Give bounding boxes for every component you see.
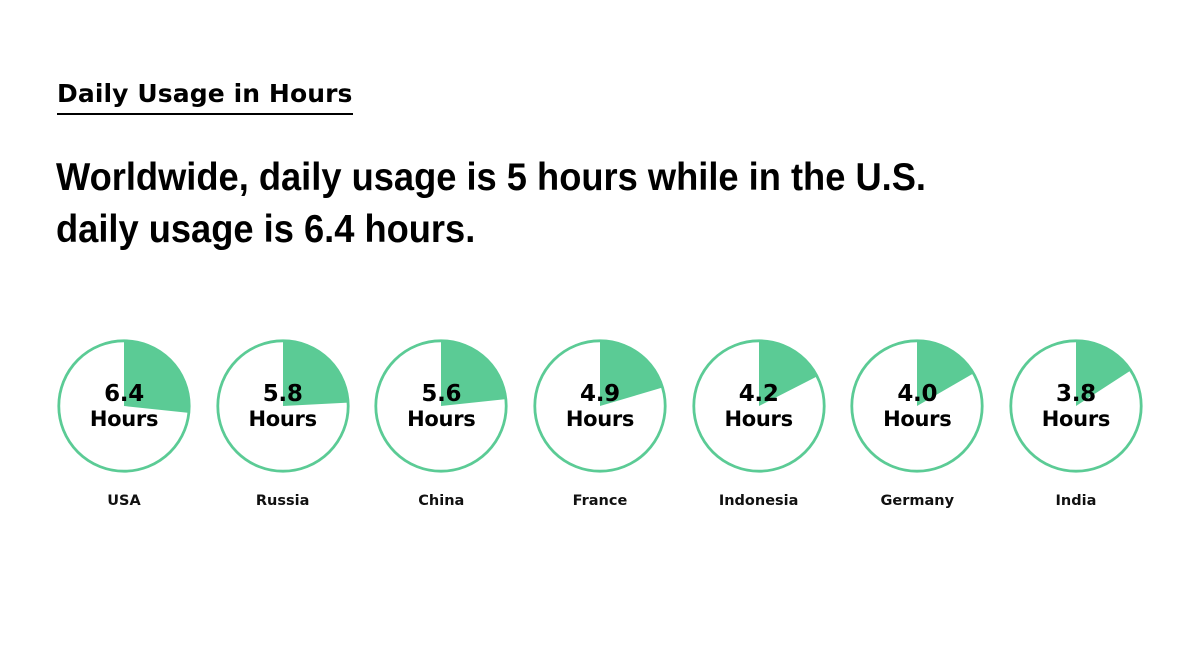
pie-cell-china: 5.6HoursChina — [373, 338, 509, 509]
pie-cell-germany: 4.0HoursGermany — [849, 338, 985, 509]
pie-country-label: China — [418, 493, 464, 509]
pie-chart-france: 4.9Hours — [532, 338, 668, 474]
pie-chart-usa: 6.4Hours — [56, 338, 192, 474]
pie-cell-france: 4.9HoursFrance — [532, 338, 668, 509]
pie-chart-indonesia: 4.2Hours — [691, 338, 827, 474]
pie-cell-russia: 5.8HoursRussia — [215, 338, 351, 509]
section-title: Daily Usage in Hours — [57, 80, 353, 115]
pie-country-label: Russia — [256, 493, 310, 509]
pie-slice-used — [441, 341, 506, 406]
pie-country-label: USA — [107, 493, 140, 509]
pie-country-label: Indonesia — [719, 493, 799, 509]
pie-cell-usa: 6.4HoursUSA — [56, 338, 192, 509]
pie-chart-russia: 5.8Hours — [215, 338, 351, 474]
pie-cell-indonesia: 4.2HoursIndonesia — [691, 338, 827, 509]
pie-cell-india: 3.8HoursIndia — [1008, 338, 1144, 509]
pie-chart-germany: 4.0Hours — [849, 338, 985, 474]
pie-country-label: India — [1056, 493, 1097, 509]
pie-chart-row: 6.4HoursUSA5.8HoursRussia5.6HoursChina4.… — [56, 338, 1144, 509]
pie-chart-india: 3.8Hours — [1008, 338, 1144, 474]
pie-slice-used — [283, 341, 348, 406]
section-title-text: Daily Usage in Hours — [57, 80, 353, 115]
pie-chart-china: 5.6Hours — [373, 338, 509, 474]
pie-slice-used — [124, 341, 189, 413]
pie-country-label: Germany — [881, 493, 955, 509]
pie-country-label: France — [573, 493, 628, 509]
headline: Worldwide, daily usage is 5 hours while … — [56, 152, 1060, 256]
